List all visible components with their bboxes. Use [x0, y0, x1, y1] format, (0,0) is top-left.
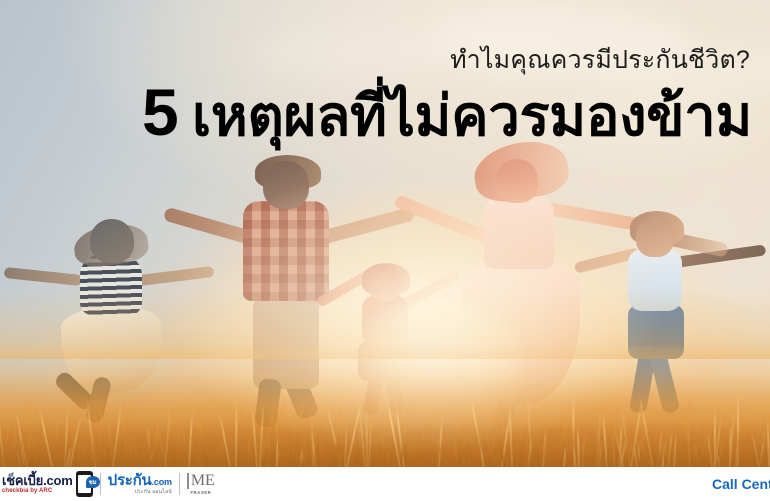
logo-prakan[interactable]: ประกัน.com ประกัน ออนไลน์	[108, 473, 172, 495]
logo-prakan-tagline: ประกัน ออนไลน์	[108, 490, 172, 495]
headline-number: 5	[142, 75, 177, 149]
head	[90, 219, 134, 263]
logo-me-mark: ME	[187, 473, 215, 489]
page-title: 5 เหตุผลที่ไม่ควรมองข้าม	[0, 77, 752, 148]
head	[263, 161, 309, 209]
head	[496, 159, 538, 203]
call-center-label[interactable]: Call Cent	[712, 476, 770, 492]
logo-divider	[179, 473, 180, 495]
insurance-banner: ทำไมคุณควรมีประกันชีวิต? 5 เหตุผลที่ไม่ค…	[0, 0, 770, 501]
phone-chat-icon: ชม	[76, 471, 93, 497]
logo-checkbia[interactable]: เช็คเบี้ย.com checkbia by ARC	[2, 474, 73, 494]
logo-me-sub: FRASER	[190, 491, 211, 496]
headline-text: เหตุผลที่ไม่ควรมองข้าม	[192, 84, 752, 147]
headline-block: ทำไมคุณควรมีประกันชีวิต? 5 เหตุผลที่ไม่ค…	[0, 46, 752, 148]
logo-me[interactable]: ME FRASER	[187, 473, 215, 496]
logo-checkbia-tagline: checkbia by ARC	[2, 488, 73, 494]
logo-prakan-primary: ประกัน.com	[108, 473, 172, 488]
footer-bar: เช็คเบี้ย.com checkbia by ARC ชม ประกัน.…	[0, 467, 770, 501]
partner-logos: เช็คเบี้ย.com checkbia by ARC ชม ประกัน.…	[0, 467, 215, 501]
eyebrow-text: ทำไมคุณควรมีประกันชีวิต?	[0, 46, 752, 74]
chat-bubble-icon: ชม	[86, 476, 100, 488]
logo-checkbia-primary: เช็คเบี้ย.com	[2, 474, 73, 487]
logo-prakan-domain: .com	[152, 477, 172, 487]
logo-divider	[100, 473, 101, 495]
field-shadow	[0, 421, 770, 467]
head	[636, 217, 674, 257]
logo-prakan-word: ประกัน	[108, 472, 152, 489]
